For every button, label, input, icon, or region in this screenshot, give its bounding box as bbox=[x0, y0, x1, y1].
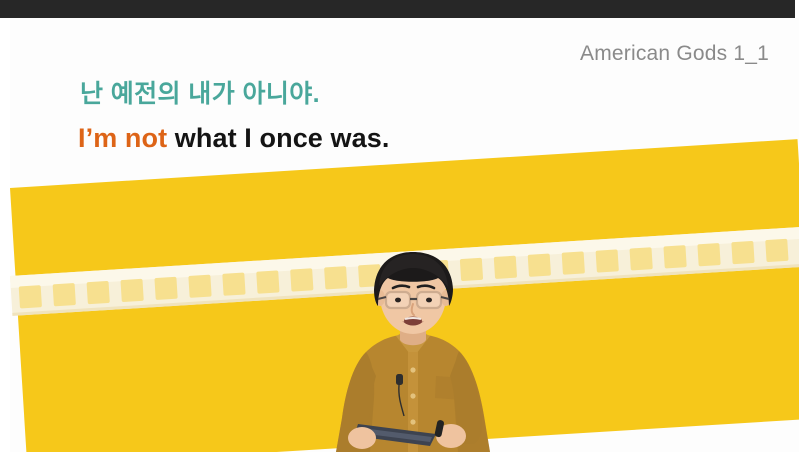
film-perforation bbox=[53, 283, 76, 306]
lesson-slide: American Gods 1_1 난 예전의 내가 아니야. I’m not … bbox=[0, 0, 809, 452]
film-perforation bbox=[663, 245, 686, 268]
film-perforation bbox=[629, 247, 652, 270]
film-perforation bbox=[562, 251, 585, 274]
film-perforation bbox=[120, 279, 143, 302]
presenter-figure bbox=[318, 248, 508, 452]
presenter-teeth bbox=[405, 318, 421, 319]
shirt-button bbox=[410, 419, 415, 424]
presenter-left-hand bbox=[348, 427, 376, 449]
lesson-title: American Gods 1_1 bbox=[580, 42, 769, 66]
presenter-eye bbox=[426, 298, 432, 303]
presenter-eye bbox=[395, 298, 401, 303]
left-margin bbox=[0, 18, 10, 452]
film-perforation bbox=[222, 272, 245, 295]
right-margin bbox=[799, 18, 809, 452]
lapel-microphone bbox=[396, 374, 403, 385]
film-perforation bbox=[19, 285, 42, 308]
film-perforation bbox=[87, 281, 110, 304]
film-perforation bbox=[528, 254, 551, 277]
shirt-button bbox=[410, 393, 415, 398]
english-subtitle: I’m not what I once was. bbox=[78, 123, 389, 154]
film-perforation bbox=[290, 268, 313, 291]
film-perforation bbox=[731, 241, 754, 264]
film-perforation bbox=[256, 270, 279, 293]
film-perforation bbox=[765, 239, 788, 262]
film-perforation bbox=[188, 275, 211, 298]
top-letterbox-tail bbox=[795, 0, 809, 18]
top-letterbox-bar bbox=[0, 0, 795, 18]
shirt-button bbox=[410, 367, 415, 372]
korean-subtitle: 난 예전의 내가 아니야. bbox=[80, 74, 320, 110]
film-perforation bbox=[596, 249, 619, 272]
film-perforation bbox=[697, 243, 720, 266]
english-subtitle-highlight: I’m not bbox=[78, 123, 167, 153]
film-perforation bbox=[154, 277, 177, 300]
slide-page: American Gods 1_1 난 예전의 내가 아니야. I’m not … bbox=[0, 18, 809, 452]
english-subtitle-rest: what I once was. bbox=[167, 123, 389, 153]
